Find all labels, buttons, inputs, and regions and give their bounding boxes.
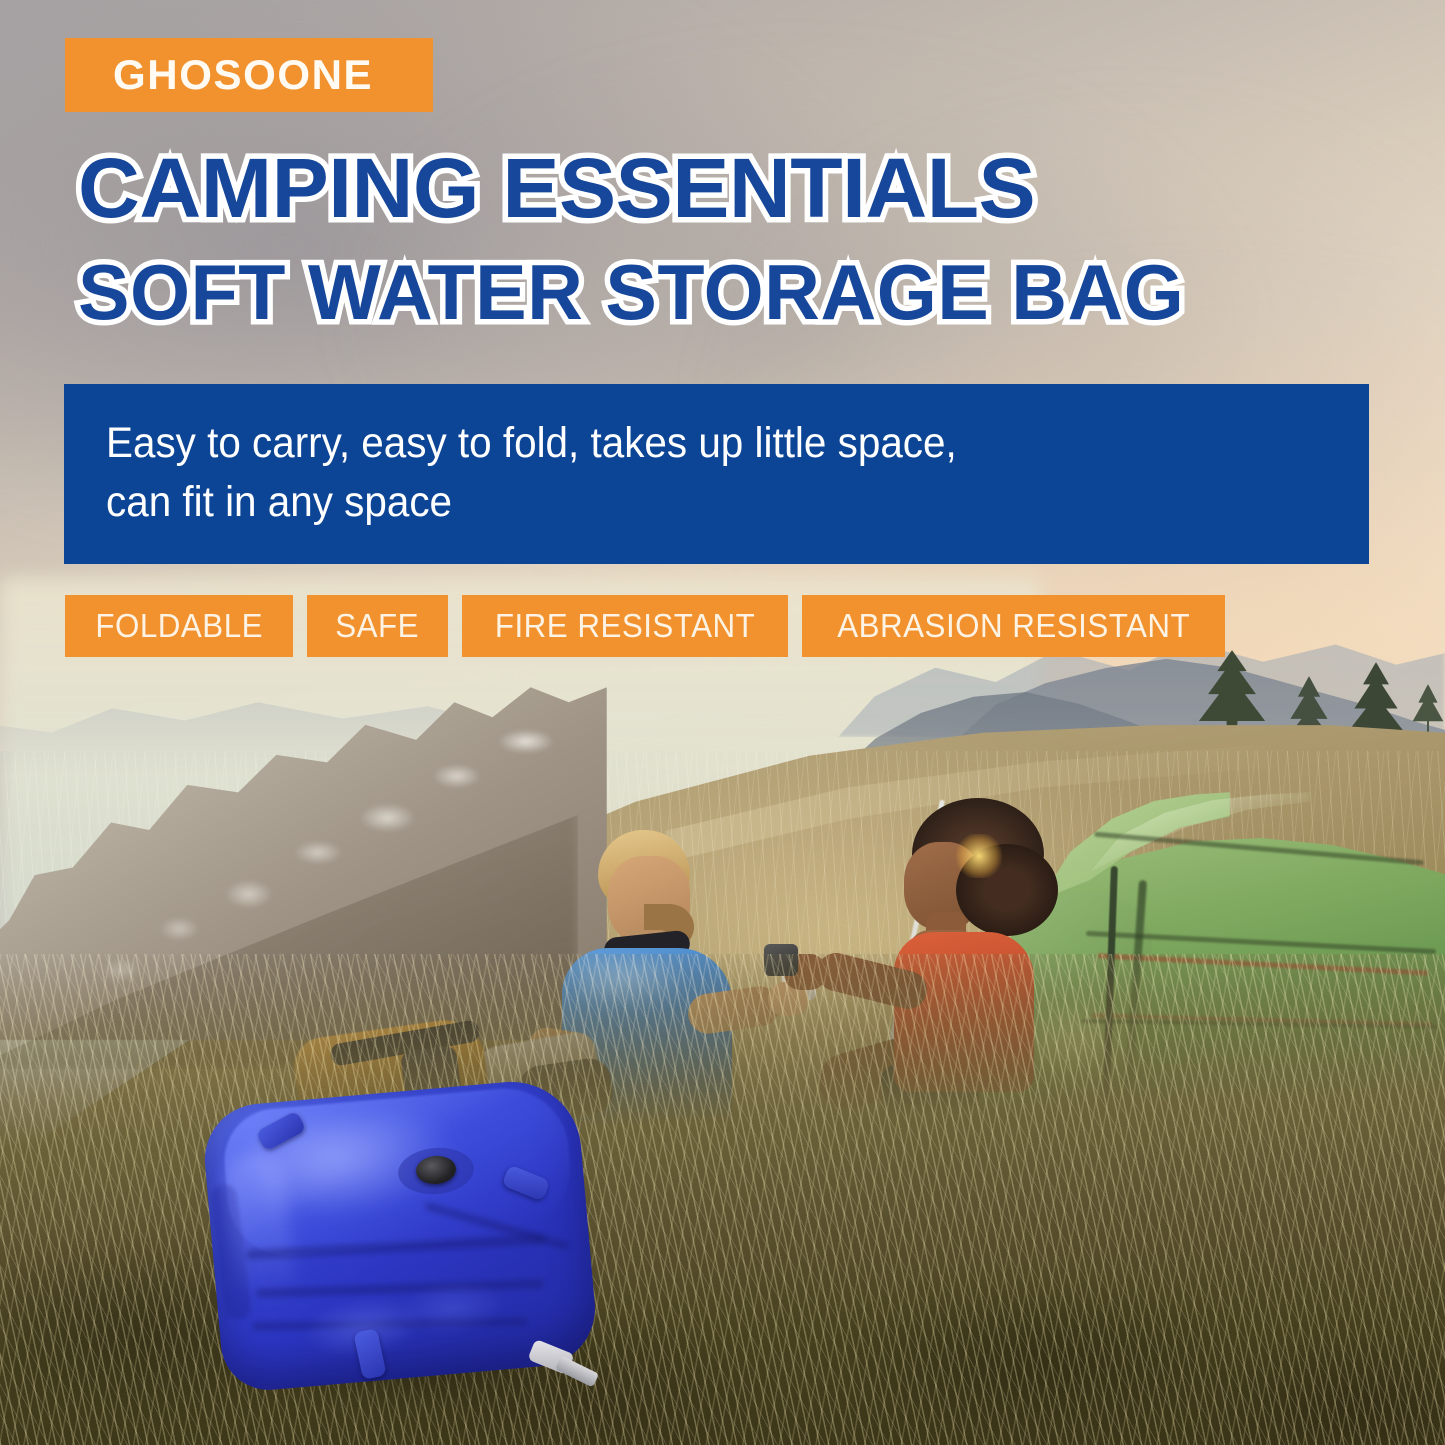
feature-tag-label: ABRASION RESISTANT xyxy=(837,607,1190,645)
feature-tag-abrasion-resistant: ABRASION RESISTANT xyxy=(802,595,1225,657)
brand-name: GHOSOONE xyxy=(65,51,373,99)
headline-secondary: SOFT WATER STORAGE BAG xyxy=(78,253,1184,331)
feature-tag-foldable: FOLDABLE xyxy=(65,595,293,657)
feature-tag-label: SAFE xyxy=(336,607,420,645)
feature-tag-row: FOLDABLE SAFE FIRE RESISTANT ABRASION RE… xyxy=(65,595,1225,657)
feature-tag-safe: SAFE xyxy=(307,595,447,657)
description-text: Easy to carry, easy to fold, takes up li… xyxy=(106,414,1254,533)
description-line-2: can fit in any space xyxy=(106,478,452,526)
description-box: Easy to carry, easy to fold, takes up li… xyxy=(64,384,1369,564)
feature-tag-label: FOLDABLE xyxy=(95,607,263,645)
marketing-overlay: GHOSOONE CAMPING ESSENTIALS SOFT WATER S… xyxy=(0,0,1445,1445)
headline-primary: CAMPING ESSENTIALS xyxy=(78,146,1035,230)
feature-tag-label: FIRE RESISTANT xyxy=(494,607,754,645)
feature-tag-fire-resistant: FIRE RESISTANT xyxy=(462,595,788,657)
description-line-1: Easy to carry, easy to fold, takes up li… xyxy=(106,419,957,467)
brand-badge: GHOSOONE xyxy=(65,38,433,112)
